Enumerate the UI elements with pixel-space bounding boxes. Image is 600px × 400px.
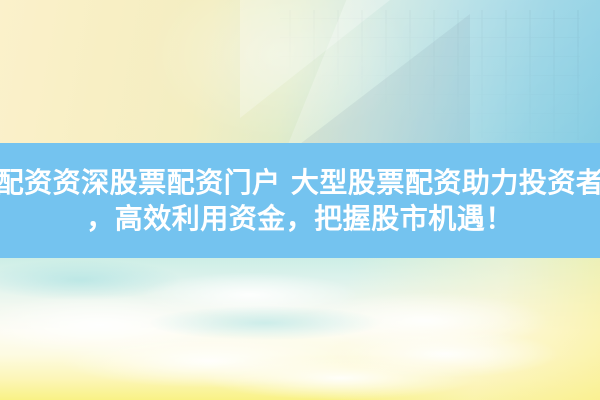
banner-top-gradient (0, 0, 600, 143)
headline-band: 配资资深股票配资门户 大型股票配资助力投资者 ，高效利用资金，把握股市机遇！ (0, 143, 600, 258)
cloud-shape (60, 334, 360, 388)
cloud-tint-left (0, 260, 180, 300)
promo-banner-image: 配资资深股票配资门户 大型股票配资助力投资者 ，高效利用资金，把握股市机遇！ (0, 0, 600, 400)
cloud-shape (330, 330, 560, 378)
headline-line-2: ，高效利用资金，把握股市机遇！ (86, 201, 514, 237)
ghost-skyline-texture (280, 10, 580, 140)
cloud-shape (200, 356, 480, 400)
banner-bottom-gradient (0, 258, 600, 400)
cloud-tint-center (150, 306, 380, 340)
headline-line-1: 配资资深股票配资门户 大型股票配资助力投资者 (0, 165, 600, 201)
